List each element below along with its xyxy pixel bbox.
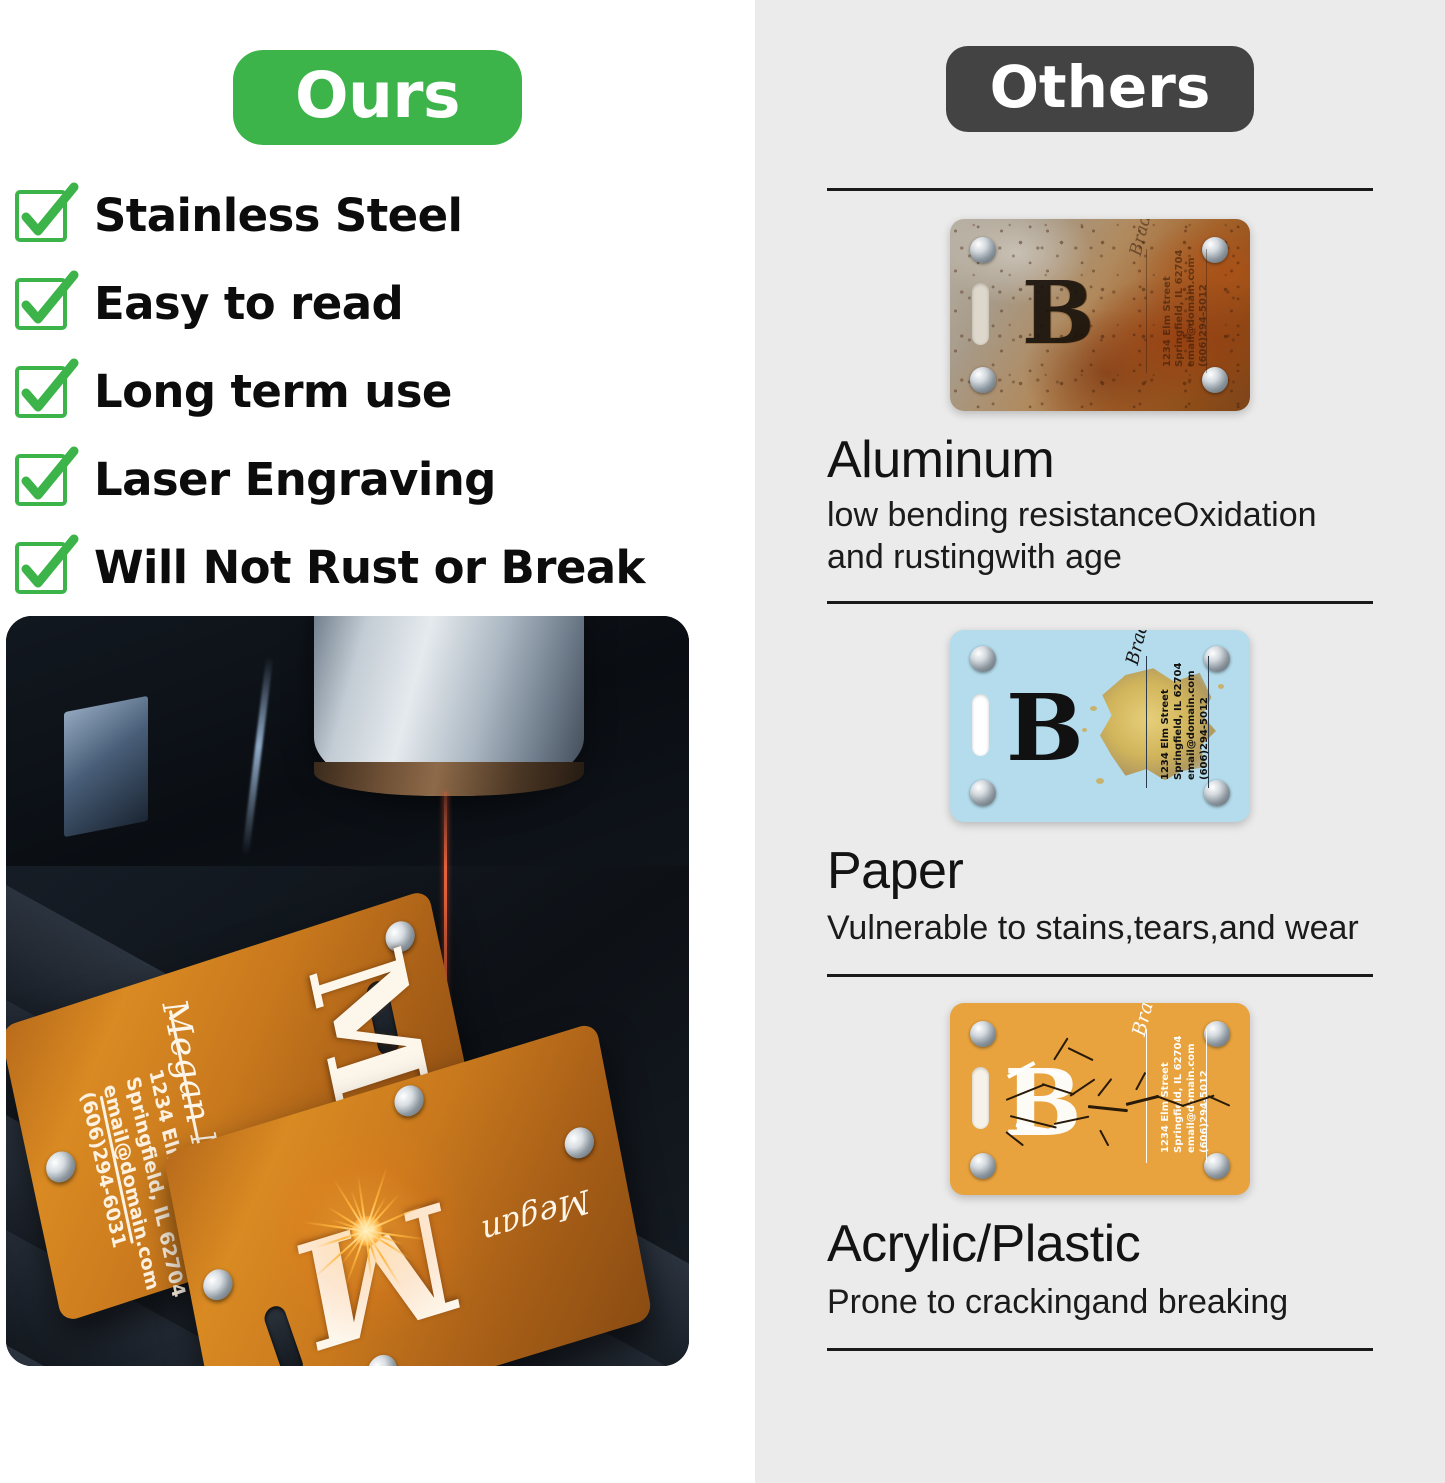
card-phone: (606)294-5012 [1197, 697, 1212, 780]
feature-label: Long term use [94, 365, 452, 418]
checkbox-checked-icon [16, 541, 68, 593]
feature-label: Will Not Rust or Break [94, 541, 645, 594]
others-column: Others B Bradley Scott 1234 Elm Street [755, 0, 1445, 1483]
card-letter: B [1022, 271, 1095, 357]
material-block-aluminum: B Bradley Scott 1234 Elm Street Springfi… [755, 219, 1445, 579]
card-phone: (606)294-5012 [1196, 284, 1211, 367]
ours-badge: Ours [233, 50, 522, 145]
others-badge-container: Others [755, 0, 1445, 132]
material-block-paper: B Bradley Scott 1234 Elm Street Springfi… [755, 630, 1445, 949]
feature-row: Will Not Rust or Break [10, 523, 755, 611]
checkbox-checked-icon [16, 189, 68, 241]
plate-script-name: Megan [479, 1182, 593, 1252]
material-description: Vulnerable to stains,tears,and wear [827, 907, 1373, 950]
feature-row: Laser Engraving [10, 435, 755, 523]
material-name: Paper [827, 844, 1373, 899]
checkbox-checked-icon [16, 277, 68, 329]
material-block-acrylic: B Bradley Scott 1234 Elm Street Springfi… [755, 1003, 1445, 1324]
card-script-name: Bradley Scott [1122, 630, 1172, 667]
ours-badge-container: Ours [0, 0, 755, 145]
feature-row: Long term use [10, 347, 755, 435]
acrylic-card-image: B Bradley Scott 1234 Elm Street Springfi… [950, 1003, 1250, 1195]
divider [827, 1348, 1373, 1351]
checkbox-checked-icon [16, 365, 68, 417]
paper-card-image: B Bradley Scott 1234 Elm Street Springfi… [950, 630, 1250, 822]
feature-label: Easy to read [94, 277, 403, 330]
ours-column: Ours Stainless Steel [0, 0, 755, 1483]
laser-engraving-photo: M Megan Miller 1234 Elm Street Springfie… [6, 616, 689, 1366]
material-description: Prone to crackingand breaking [827, 1281, 1373, 1324]
card-phone: (606)294-5012 [1197, 1070, 1212, 1153]
feature-row: Easy to read [10, 259, 755, 347]
others-badge: Others [946, 46, 1255, 132]
aluminum-card-image: B Bradley Scott 1234 Elm Street Springfi… [950, 219, 1250, 411]
ours-feature-list: Stainless Steel Easy to read [10, 171, 755, 611]
feature-row: Stainless Steel [10, 171, 755, 259]
card-script-name: Bradley Scott [1128, 1003, 1181, 1038]
card-letter: B [1006, 682, 1084, 774]
material-name: Aluminum [827, 433, 1373, 488]
comparison-infographic: Ours Stainless Steel [0, 0, 1445, 1483]
divider [827, 974, 1373, 977]
feature-label: Stainless Steel [94, 189, 462, 242]
divider [827, 188, 1373, 191]
material-name: Acrylic/Plastic [827, 1217, 1373, 1272]
checkbox-checked-icon [16, 453, 68, 505]
feature-label: Laser Engraving [94, 453, 496, 506]
material-description: low bending resistanceOxidation and rust… [827, 494, 1347, 580]
divider [827, 601, 1373, 604]
laser-head-icon [314, 616, 584, 796]
